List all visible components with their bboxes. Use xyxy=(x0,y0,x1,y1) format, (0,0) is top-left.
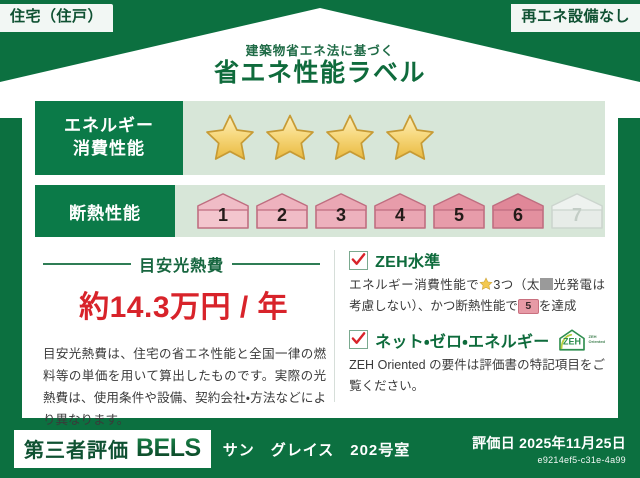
net-zero-energy-title: ネット・ゼロ・エネルギー xyxy=(375,328,549,352)
building-name: サン グレイス 202号室 xyxy=(223,439,411,460)
net-zero-energy-block: ネット・ゼロ・エネルギー ZEH ZEH Oriented xyxy=(349,328,605,398)
insulation-level-number: 3 xyxy=(336,205,346,231)
star-row xyxy=(203,112,437,164)
column-divider xyxy=(334,250,335,402)
heading-rule-right xyxy=(232,263,320,265)
star-icon xyxy=(383,112,437,164)
tag-renewable-equipment: 再エネ設備なし xyxy=(511,4,640,32)
insulation-level-5: 5 xyxy=(431,191,487,231)
house-row: 1234567 xyxy=(195,191,605,231)
star-icon-inline xyxy=(479,277,493,291)
net-zero-energy-heading: ネット・ゼロ・エネルギー ZEH ZEH Oriented xyxy=(349,328,605,352)
insulation-level-scale: 1234567 xyxy=(175,191,605,231)
bels-logo-text: BELS xyxy=(136,434,201,463)
insulation-level-6: 6 xyxy=(490,191,546,231)
utility-cost-note: 目安光熱費は、住宅の省エネ性能と全国一律の燃料等の単価を用いて算出したものです。… xyxy=(43,344,326,432)
insulation-level-number: 5 xyxy=(454,205,464,231)
energy-star-rating xyxy=(183,112,605,164)
zeh-standard-block: ZEH水準 エネルギー消費性能で3つ（太光発電は考慮しない）、かつ断熱性能で5を… xyxy=(349,248,605,318)
star-icon xyxy=(323,112,377,164)
checkbox-checked-icon xyxy=(349,251,368,270)
zeh-standard-heading: ZEH水準 xyxy=(349,248,605,272)
insulation-performance-label: 断熱性能 xyxy=(35,185,175,237)
evaluation-id: e9214ef5-c31e-4a99 xyxy=(472,455,626,465)
star-icon xyxy=(203,112,257,164)
energy-label-root: 建築物省エネ法に基づく 省エネ性能ラベル 住宅（住戸） 再エネ設備なし エネルギ… xyxy=(0,0,640,478)
evaluation-date: 評価日 2025年11月25日 xyxy=(472,433,626,453)
insulation-level-4: 4 xyxy=(372,191,428,231)
footer-bar: 第三者評価 BELS サン グレイス 202号室 評価日 2025年11月25日… xyxy=(0,420,640,478)
insulation-level-3: 3 xyxy=(313,191,369,231)
utility-cost-value: 約14.3万円 / 年 xyxy=(35,282,332,326)
zeh-body-mid: 3つ（太 xyxy=(493,278,540,292)
insulation-level-7: 7 xyxy=(549,191,605,231)
insulation-level-number: 7 xyxy=(572,205,582,231)
bels-jp-label: 第三者評価 xyxy=(24,434,129,463)
zeh-body-post: を達成 xyxy=(539,299,577,313)
energy-label-line2: 消費性能 xyxy=(73,138,145,161)
zeh-standard-title: ZEH水準 xyxy=(375,248,441,272)
bels-badge: 第三者評価 BELS xyxy=(14,430,211,468)
label-panel: エネルギー 消費性能 xyxy=(22,88,618,418)
zeh-column: ZEH水準 エネルギー消費性能で3つ（太光発電は考慮しない）、かつ断熱性能で5を… xyxy=(345,246,605,412)
energy-performance-row: エネルギー 消費性能 xyxy=(35,101,605,175)
checkbox-checked-icon xyxy=(349,330,368,349)
utility-cost-heading: 目安光熱費 xyxy=(43,252,320,276)
zeh-logo-subtext: ZEH Oriented xyxy=(589,335,605,344)
star-icon xyxy=(263,112,317,164)
utility-cost-heading-text: 目安光熱費 xyxy=(139,252,224,276)
zeh-house-logo-icon: ZEH ZEH Oriented xyxy=(557,328,605,352)
svg-text:ZEH: ZEH xyxy=(563,336,581,346)
energy-label-line1: エネルギー xyxy=(64,115,154,138)
utility-cost-column: 目安光熱費 約14.3万円 / 年 目安光熱費は、住宅の省エネ性能と全国一律の燃… xyxy=(35,246,332,412)
insulation-level-2: 2 xyxy=(254,191,310,231)
lower-section: 目安光熱費 約14.3万円 / 年 目安光熱費は、住宅の省エネ性能と全国一律の燃… xyxy=(35,246,605,412)
zeh-body-pre: エネルギー消費性能で xyxy=(349,278,479,292)
net-zero-energy-body: ZEH Oriented の要件は評価書の特記項目をご覧ください。 xyxy=(349,355,605,398)
insulation-label-text: 断熱性能 xyxy=(69,199,141,224)
insulation-level-number: 1 xyxy=(218,205,228,231)
zeh-standard-body: エネルギー消費性能で3つ（太光発電は考慮しない）、かつ断熱性能で5を達成 xyxy=(349,275,605,318)
insulation-level-number: 4 xyxy=(395,205,405,231)
energy-performance-label: エネルギー 消費性能 xyxy=(35,101,183,175)
insulation-level-chip: 5 xyxy=(518,299,539,314)
insulation-level-number: 2 xyxy=(277,205,287,231)
insulation-level-1: 1 xyxy=(195,191,251,231)
evaluation-meta: 評価日 2025年11月25日 e9214ef5-c31e-4a99 xyxy=(472,433,626,465)
insulation-level-number: 6 xyxy=(513,205,523,231)
zeh-logo-sub2: Oriented xyxy=(589,339,605,344)
heading-rule-left xyxy=(43,263,131,265)
redacted-character xyxy=(540,278,553,290)
tag-dwelling-type: 住宅（住戸） xyxy=(0,4,113,32)
insulation-performance-row: 断熱性能 1234567 xyxy=(35,185,605,237)
